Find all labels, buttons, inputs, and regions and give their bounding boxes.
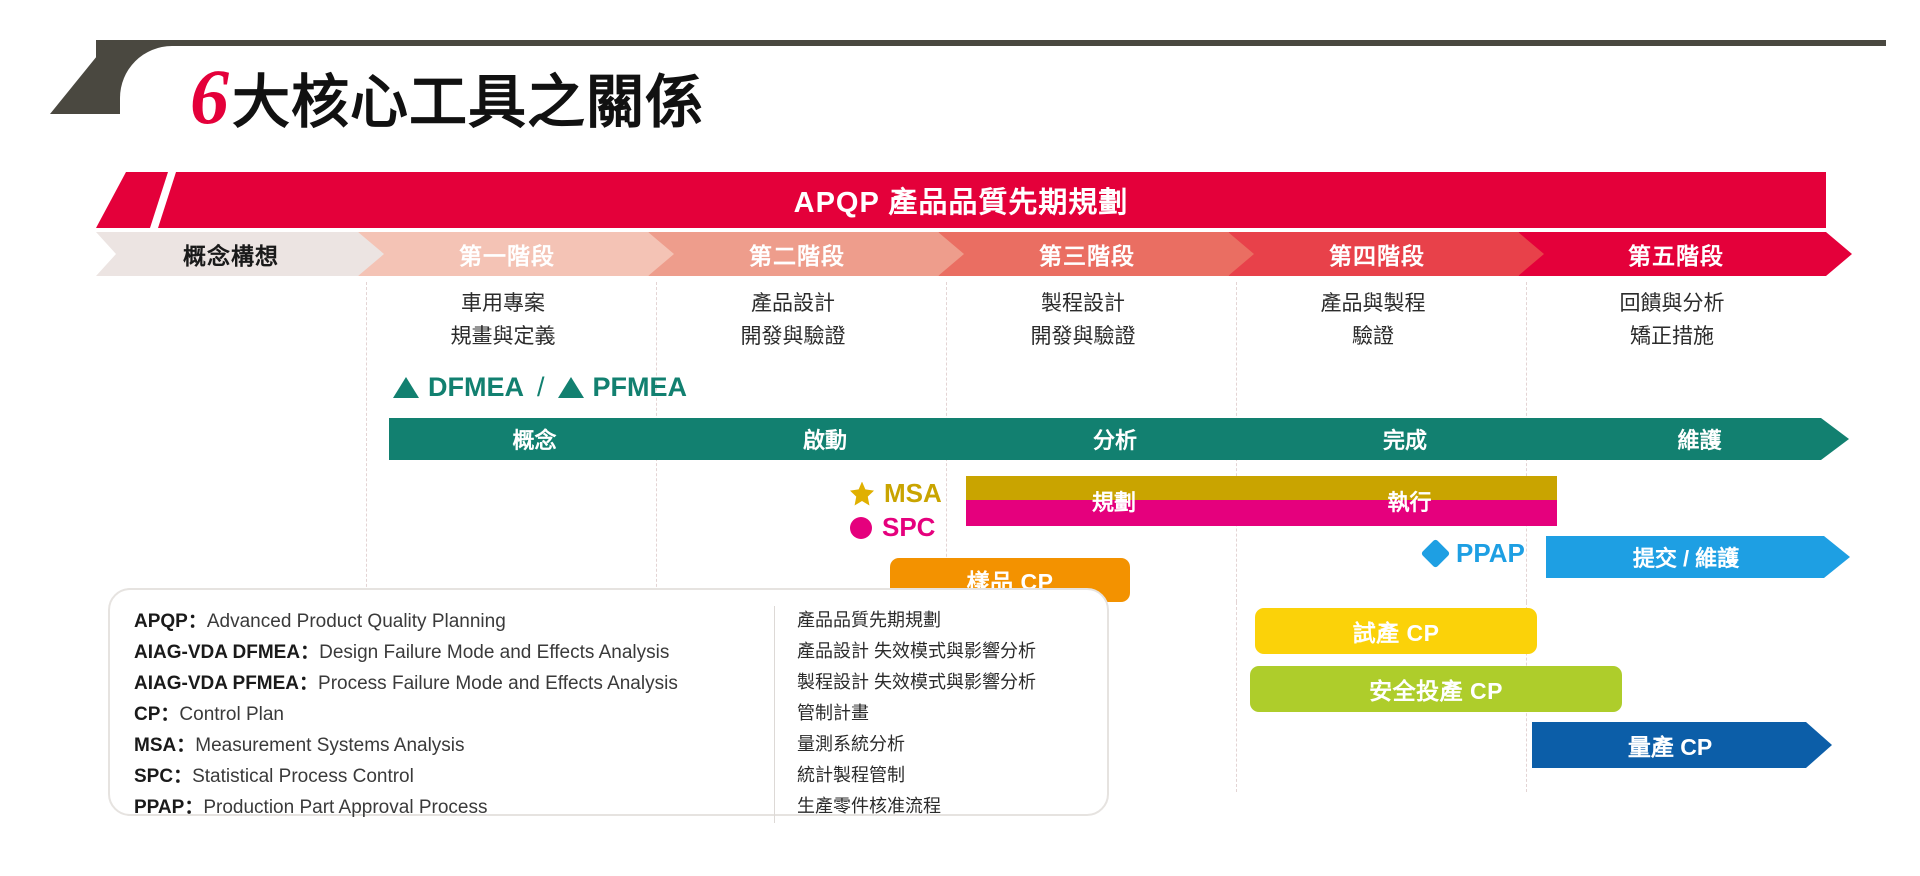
- title-number: 6: [190, 58, 230, 136]
- stage-description-line: 車用專案: [358, 288, 648, 321]
- stage-chevron-label: 第二階段: [749, 237, 845, 271]
- stage-chevron-row: 概念構想第一階段第二階段第三階段第四階段第五階段: [96, 232, 1826, 276]
- title-text: 大核心工具之關係: [232, 55, 704, 139]
- legend-chinese-name: 產品品質先期規劃: [797, 606, 1074, 637]
- stage-chevron-label: 概念構想: [183, 237, 279, 271]
- stage-chevron-label: 第五階段: [1628, 237, 1724, 271]
- legend-colon: ：: [188, 606, 207, 633]
- legend-abbreviation: AIAG-VDA DFMEA: [134, 642, 300, 664]
- legend-abbreviation: AIAG-VDA PFMEA: [134, 673, 299, 695]
- msa-spc-execute-label: 執行: [1262, 481, 1557, 521]
- ppap-label-group: PPAP: [1425, 538, 1525, 569]
- stage-description-line: 產品設計: [648, 288, 938, 321]
- stage-description-line: 矯正措施: [1518, 321, 1826, 354]
- diamond-icon: [1421, 539, 1451, 569]
- fmea-separator: /: [537, 372, 545, 403]
- legend-abbreviation: APQP: [134, 611, 188, 633]
- legend-full-name: Design Failure Mode and Effects Analysis: [319, 642, 669, 664]
- legend-colon: ：: [300, 637, 319, 664]
- legend-chinese-name: 生產零件核准流程: [797, 792, 1074, 823]
- legend-box: APQP：Advanced Product Quality PlanningAI…: [108, 588, 1109, 816]
- stage-description-line: 驗證: [1228, 321, 1518, 354]
- legend-colon: ：: [173, 761, 192, 788]
- page-title: 6 大核心工具之關係: [190, 52, 704, 142]
- legend-chinese-name: 量測系統分析: [797, 730, 1074, 761]
- ppap-label: PPAP: [1456, 538, 1525, 569]
- stage-description-line: 開發與驗證: [648, 321, 938, 354]
- legend-row: MSA：Measurement Systems Analysis: [134, 730, 774, 761]
- infographic-canvas: 6 大核心工具之關係 APQP 產品品質先期規劃 概念構想第一階段第二階段第三階…: [0, 0, 1920, 876]
- legend-abbreviation: MSA: [134, 735, 176, 757]
- stage-description-line: 產品與製程: [1228, 288, 1518, 321]
- mass-production-cp-label: 量產 CP: [1532, 722, 1808, 768]
- column-separator: [1236, 602, 1237, 792]
- legend-abbreviation: PPAP: [134, 797, 184, 819]
- legend-full-name: Control Plan: [179, 704, 284, 726]
- triangle-icon: [393, 377, 419, 398]
- spc-label-group: SPC: [850, 512, 935, 543]
- ppap-arrow-label: 提交 / 維護: [1546, 536, 1826, 578]
- legend-abbreviation: CP: [134, 704, 160, 726]
- legend-full-name: Statistical Process Control: [192, 766, 414, 788]
- legend-chinese-column: 產品品質先期規劃產品設計 失效模式與影響分析製程設計 失效模式與影響分析管制計畫…: [774, 606, 1074, 823]
- stage-description-line: 開發與驗證: [938, 321, 1228, 354]
- stage-chevron-6[interactable]: 第五階段: [1518, 232, 1852, 276]
- stage-chevron-label: 第四階段: [1329, 237, 1425, 271]
- legend-row: AIAG-VDA DFMEA：Design Failure Mode and E…: [134, 637, 774, 668]
- control-plan-pill[interactable]: 試產 CP: [1255, 608, 1537, 654]
- legend-colon: ：: [184, 792, 203, 819]
- msa-spc-plan-label: 規劃: [966, 481, 1262, 521]
- stage-description-3: 產品設計開發與驗證: [648, 288, 938, 353]
- legend-abbreviation: SPC: [134, 766, 173, 788]
- pfmea-label: PFMEA: [593, 372, 688, 403]
- stage-chevron-5[interactable]: 第四階段: [1228, 232, 1544, 276]
- legend-chinese-name: 產品設計 失效模式與影響分析: [797, 637, 1074, 668]
- legend-row: APQP：Advanced Product Quality Planning: [134, 606, 774, 637]
- legend-full-name: Measurement Systems Analysis: [195, 735, 464, 757]
- fmea-phase-4: 完成: [1260, 418, 1550, 460]
- stage-description-2: 車用專案規畫與定義: [358, 288, 648, 353]
- fmea-phase-3: 分析: [970, 418, 1260, 460]
- legend-row: PPAP：Production Part Approval Process: [134, 792, 774, 823]
- fmea-phase-5: 維護: [1550, 418, 1849, 460]
- stage-chevron-label: 第一階段: [459, 237, 555, 271]
- control-plan-pill[interactable]: 安全投產 CP: [1250, 666, 1622, 712]
- legend-full-name: Process Failure Mode and Effects Analysi…: [318, 673, 678, 695]
- stage-chevron-1[interactable]: 概念構想: [96, 232, 384, 276]
- stage-chevron-3[interactable]: 第二階段: [648, 232, 964, 276]
- legend-chinese-name: 製程設計 失效模式與影響分析: [797, 668, 1074, 699]
- stage-description-line: 回饋與分析: [1518, 288, 1826, 321]
- stage-description-6: 回饋與分析矯正措施: [1518, 288, 1826, 353]
- stage-description-line: 規畫與定義: [358, 321, 648, 354]
- apqp-banner-title: APQP 產品品質先期規劃: [96, 172, 1826, 228]
- dfmea-label: DFMEA: [428, 372, 524, 403]
- fmea-phase-2: 啟動: [680, 418, 970, 460]
- legend-colon: ：: [160, 699, 179, 726]
- legend-chinese-name: 管制計畫: [797, 699, 1074, 730]
- spc-label: SPC: [882, 512, 935, 543]
- legend-row: AIAG-VDA PFMEA：Process Failure Mode and …: [134, 668, 774, 699]
- fmea-phase-1: 概念: [389, 418, 680, 460]
- triangle-icon: [558, 377, 584, 398]
- legend-row: SPC：Statistical Process Control: [134, 761, 774, 792]
- msa-label-group: MSA: [850, 478, 942, 509]
- stage-chevron-4[interactable]: 第三階段: [938, 232, 1254, 276]
- legend-colon: ：: [176, 730, 195, 757]
- legend-row: CP：Control Plan: [134, 699, 774, 730]
- msa-label: MSA: [884, 478, 942, 509]
- legend-colon: ：: [299, 668, 318, 695]
- stage-chevron-label: 第三階段: [1039, 237, 1135, 271]
- legend-full-name: Advanced Product Quality Planning: [207, 611, 506, 633]
- legend-english-column: APQP：Advanced Product Quality PlanningAI…: [134, 606, 774, 823]
- stage-description-line: 製程設計: [938, 288, 1228, 321]
- fmea-label-group: DFMEA / PFMEA: [393, 372, 687, 403]
- legend-full-name: Production Part Approval Process: [203, 797, 487, 819]
- stage-description-4: 製程設計開發與驗證: [938, 288, 1228, 353]
- stage-chevron-2[interactable]: 第一階段: [358, 232, 674, 276]
- star-icon: [850, 482, 874, 506]
- legend-chinese-name: 統計製程管制: [797, 761, 1074, 792]
- stage-description-5: 產品與製程驗證: [1228, 288, 1518, 353]
- circle-icon: [850, 517, 872, 539]
